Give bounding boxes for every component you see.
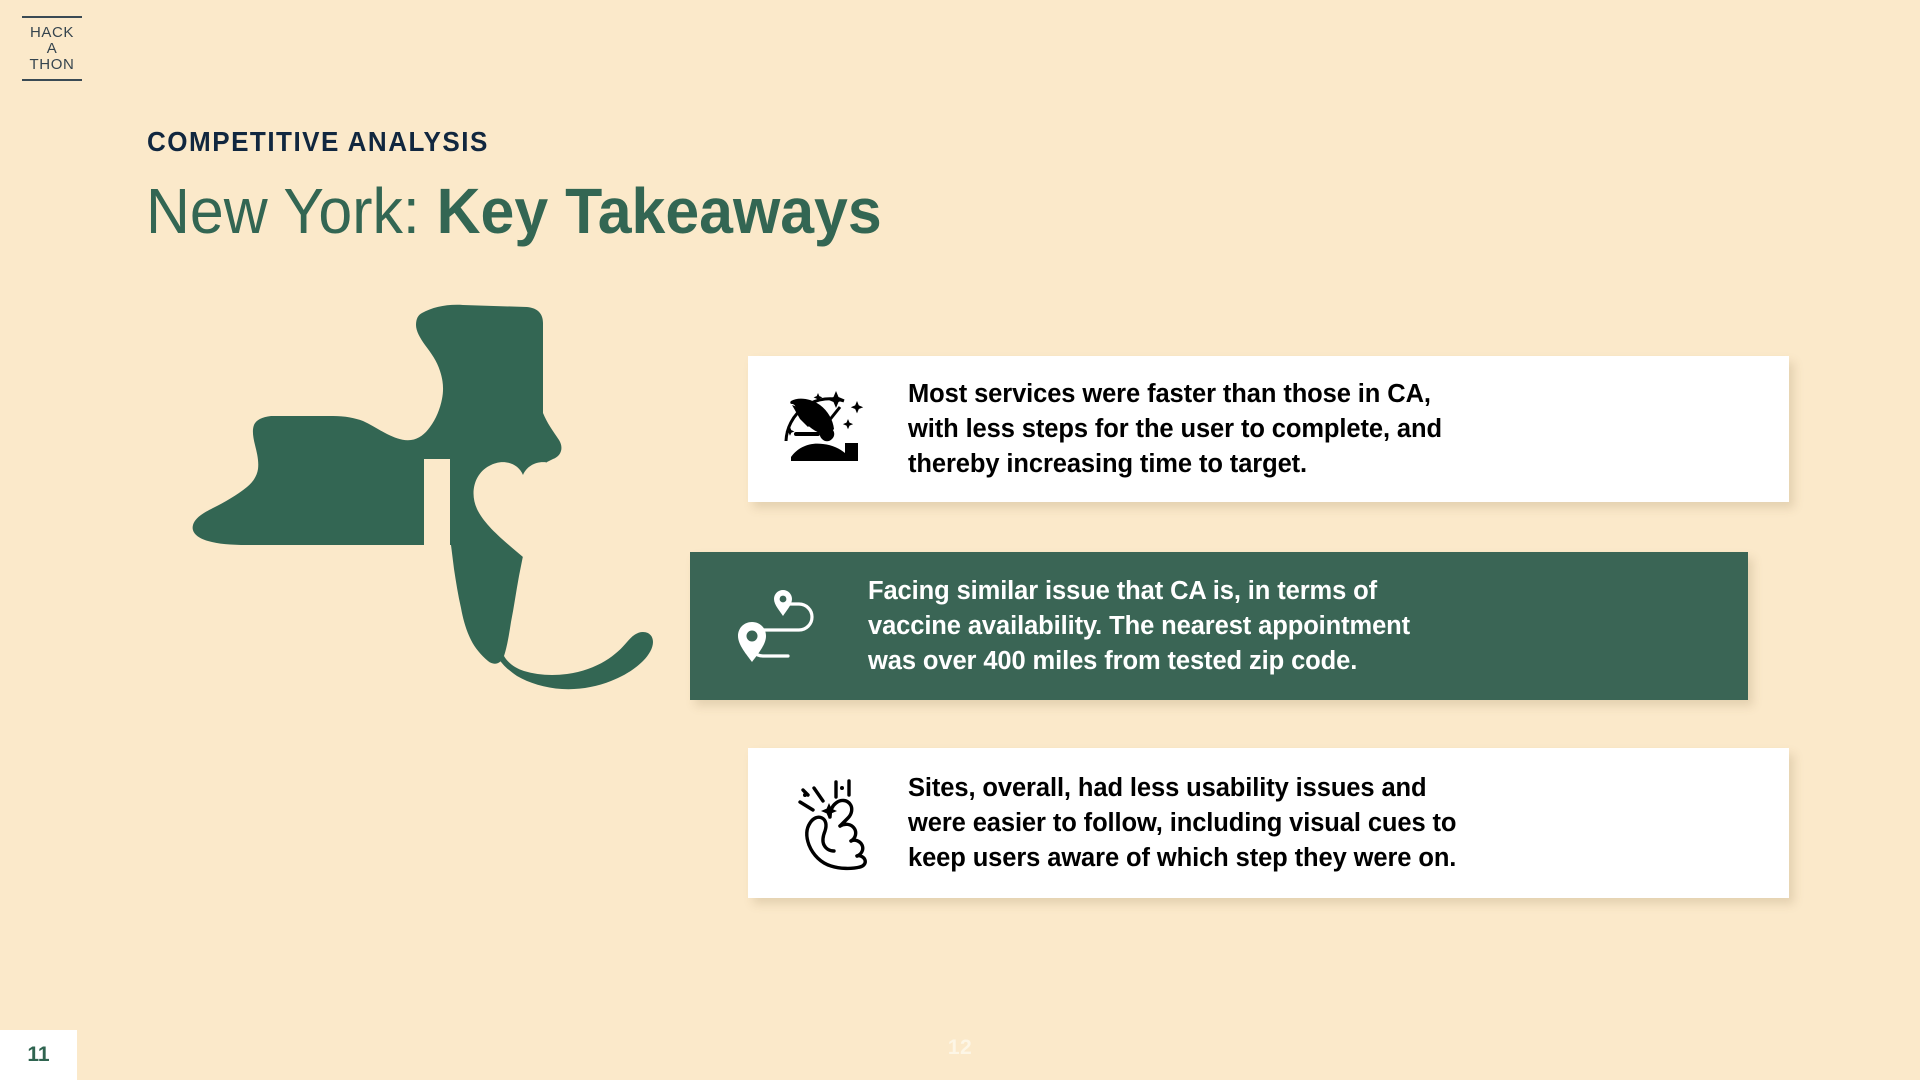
logo-rule-bottom (22, 79, 82, 81)
logo-line-hack: HACK (22, 25, 82, 41)
hackathon-logo: HACK A THON (22, 16, 82, 81)
takeaway-card-3: Sites, overall, had less usability issue… (748, 748, 1789, 898)
page-title: New York: Key Takeaways (146, 176, 882, 246)
logo-line-thon: THON (22, 57, 82, 73)
takeaway-card-3-text: Sites, overall, had less usability issue… (908, 771, 1476, 876)
takeaway-card-1: Most services were faster than those in … (748, 356, 1789, 502)
slide-center-number: 12 (0, 1036, 1920, 1060)
takeaway-2-line-2: vaccine availability. The nearest appoin… (868, 609, 1410, 644)
takeaway-1-line-1: Most services were faster than those in … (908, 377, 1442, 412)
page-title-light: New York: (146, 175, 420, 247)
takeaway-card-2-text: Facing similar issue that CA is, in term… (868, 574, 1430, 679)
new-york-map-illustration (175, 295, 715, 695)
route-map-pins-icon (690, 552, 868, 700)
takeaway-1-line-2: with less steps for the user to complete… (908, 412, 1442, 447)
section-eyebrow: COMPETITIVE ANALYSIS (147, 126, 489, 158)
finger-snap-hand-icon (748, 748, 908, 898)
rocket-launch-icon (748, 356, 908, 502)
logo-line-a: A (22, 41, 82, 57)
takeaway-3-line-1: Sites, overall, had less usability issue… (908, 771, 1456, 806)
new-york-state-icon (175, 295, 715, 695)
takeaway-1-line-3: thereby increasing time to target. (908, 447, 1442, 482)
takeaway-card-2: Facing similar issue that CA is, in term… (690, 552, 1748, 700)
takeaway-2-line-3: was over 400 miles from tested zip code. (868, 644, 1410, 679)
logo-rule-top (22, 16, 82, 18)
takeaway-3-line-2: were easier to follow, including visual … (908, 806, 1456, 841)
takeaway-card-1-text: Most services were faster than those in … (908, 377, 1462, 482)
takeaway-2-line-1: Facing similar issue that CA is, in term… (868, 574, 1410, 609)
page-title-bold: Key Takeaways (437, 175, 882, 247)
takeaway-3-line-3: keep users aware of which step they were… (908, 841, 1456, 876)
